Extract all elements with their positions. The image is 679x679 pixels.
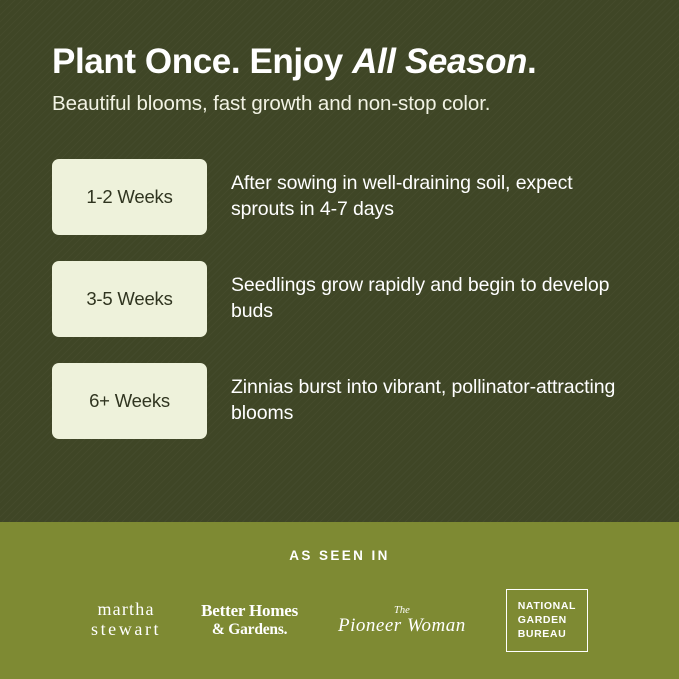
timeline-row: 6+ Weeks Zinnias burst into vibrant, pol… (52, 363, 627, 439)
timeline-description-3: Zinnias burst into vibrant, pollinator-a… (231, 375, 627, 427)
logo-ngb-line-1: NATIONAL (518, 599, 576, 613)
timeline-chip-label: 1-2 Weeks (86, 186, 172, 208)
timeline-chip-2: 3-5 Weeks (52, 261, 207, 337)
headline-part-1: Plant Once. Enjoy (52, 42, 352, 81)
logo-martha-line-1: martha (91, 600, 161, 620)
timeline-row: 1-2 Weeks After sowing in well-draining … (52, 159, 627, 235)
timeline-row: 3-5 Weeks Seedlings grow rapidly and beg… (52, 261, 627, 337)
timeline-description-1: After sowing in well-draining soil, expe… (231, 171, 627, 223)
promo-poster: Plant Once. Enjoy All Season. Beautiful … (0, 0, 679, 679)
press-logo-list: martha stewart Better Homes & Gardens. T… (20, 589, 659, 652)
logo-ngb-line-3: BUREAU (518, 627, 576, 641)
logo-pioneer-woman: The Pioneer Woman (338, 606, 466, 636)
timeline-chip-3: 6+ Weeks (52, 363, 207, 439)
page-title: Plant Once. Enjoy All Season. (52, 42, 627, 82)
logo-pioneer-line-2: Pioneer Woman (338, 616, 466, 635)
logo-ngb-line-2: GARDEN (518, 613, 576, 627)
headline-italic: All Season (352, 42, 527, 81)
headline-part-3: . (527, 42, 536, 81)
growth-timeline: 1-2 Weeks After sowing in well-draining … (52, 159, 627, 439)
hero-section: Plant Once. Enjoy All Season. Beautiful … (0, 0, 679, 522)
logo-bhg-line-2: & Gardens. (201, 621, 298, 638)
timeline-chip-label: 6+ Weeks (89, 390, 170, 412)
as-seen-in-section: AS SEEN IN martha stewart Better Homes &… (0, 522, 679, 679)
timeline-chip-1: 1-2 Weeks (52, 159, 207, 235)
logo-bhg-line-1: Better Homes (201, 602, 298, 621)
timeline-description-2: Seedlings grow rapidly and begin to deve… (231, 273, 627, 325)
logo-martha-stewart: martha stewart (91, 600, 161, 640)
subheadline: Beautiful blooms, fast growth and non-st… (52, 92, 627, 117)
logo-national-garden-bureau: NATIONAL GARDEN BUREAU (506, 589, 588, 652)
as-seen-in-label: AS SEEN IN (20, 548, 659, 563)
logo-martha-line-2: stewart (91, 620, 161, 640)
logo-better-homes-and-gardens: Better Homes & Gardens. (201, 602, 298, 638)
timeline-chip-label: 3-5 Weeks (86, 288, 172, 310)
